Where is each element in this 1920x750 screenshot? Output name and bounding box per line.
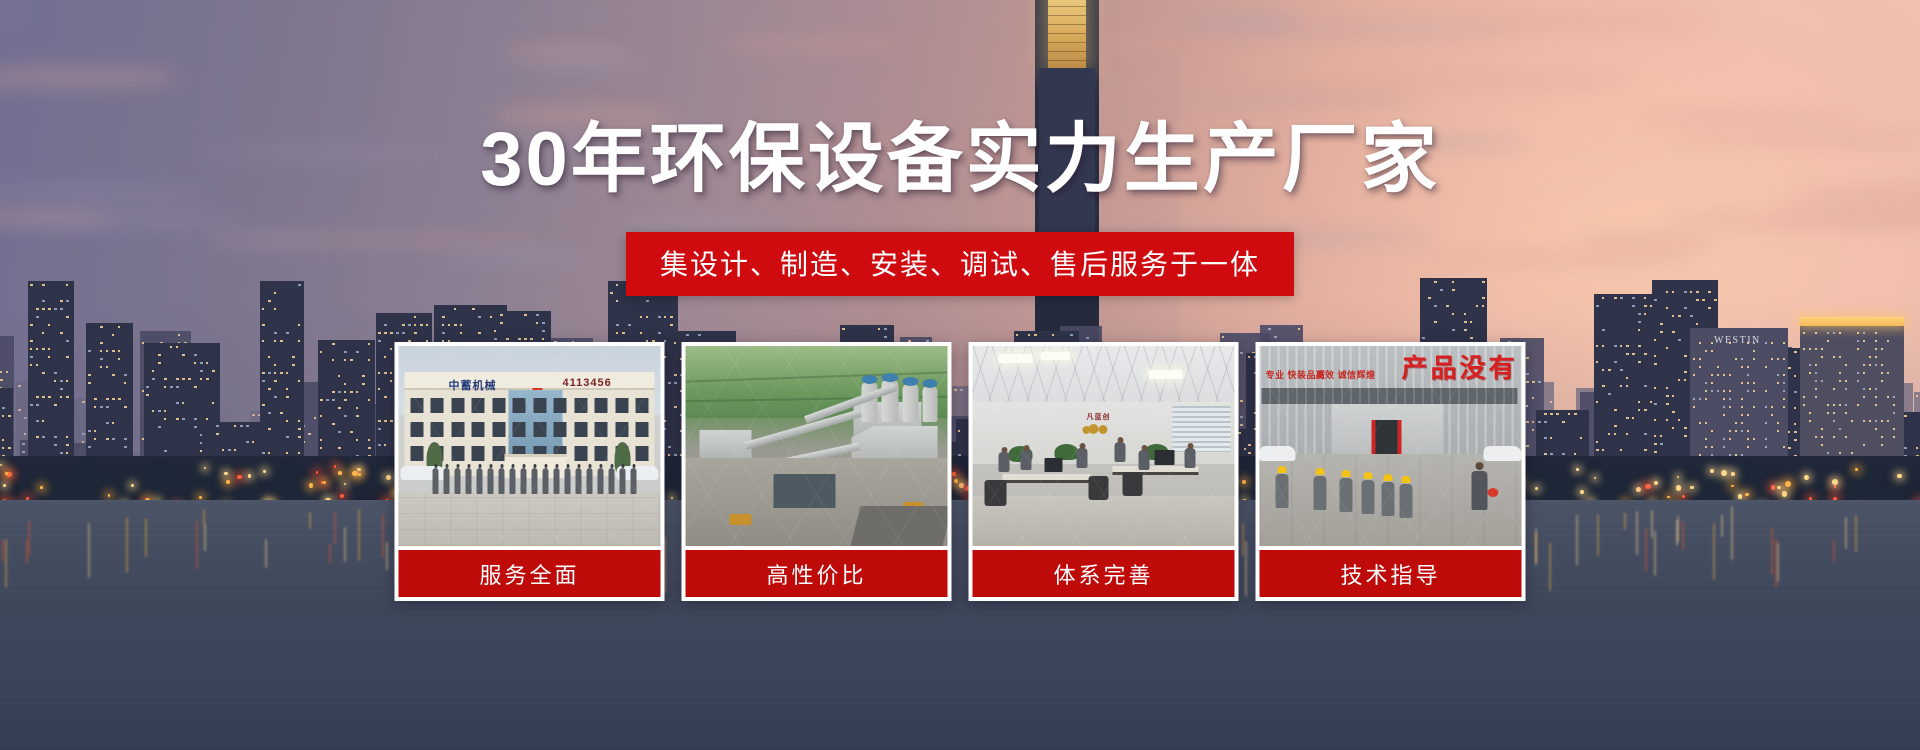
water-reflection — [265, 539, 267, 568]
water-reflection — [1775, 538, 1777, 587]
water-reflection — [1855, 515, 1857, 552]
westin-sign: WESTIN — [1714, 335, 1761, 346]
office-worker — [1021, 450, 1032, 470]
factory-window-strip — [1262, 388, 1518, 404]
bank-light — [1645, 484, 1651, 490]
staff-member — [499, 468, 505, 494]
water-reflection — [2, 539, 4, 560]
bank-light — [1682, 495, 1685, 498]
water-reflection — [204, 524, 206, 551]
staff-member — [620, 468, 626, 494]
water-reflection — [26, 540, 28, 563]
factory-worker — [1400, 476, 1413, 518]
bank-light — [1834, 485, 1837, 488]
staff-member — [598, 468, 604, 494]
bank-light — [0, 464, 2, 466]
factory-worker — [1340, 470, 1353, 512]
bank-light — [1731, 485, 1734, 488]
water-reflection — [386, 542, 388, 570]
staff-member — [587, 468, 593, 494]
factory-worker — [1362, 472, 1375, 514]
water-reflection — [1597, 514, 1599, 556]
bank-light — [5, 472, 8, 475]
bank-light — [1782, 491, 1787, 496]
water-reflection — [1636, 511, 1638, 555]
silo — [903, 384, 919, 422]
water-reflection — [145, 518, 147, 558]
water-reflection — [309, 512, 311, 529]
company-headquarters-photo: 中蓄机械 4113456 — [399, 346, 661, 546]
bank-light — [358, 473, 361, 476]
bank-light — [386, 475, 391, 480]
water-reflection — [329, 544, 331, 564]
bank-light — [1832, 479, 1838, 485]
office-worker — [1139, 450, 1150, 470]
feature-card[interactable]: 凡蓝创 — [969, 342, 1239, 601]
water-reflection — [88, 523, 90, 579]
water-reflection — [1651, 510, 1653, 538]
water-reflection — [5, 539, 7, 588]
hero-banner: WESTIN 30年环保设备实力生产厂家 集设计、制造、安装、调试、售后服务于一… — [0, 0, 1920, 750]
office-chair — [985, 480, 1007, 506]
staff-member — [532, 468, 538, 494]
feature-card-label: 体系完善 — [973, 550, 1235, 597]
window-row — [411, 422, 649, 437]
ceiling-light — [1041, 352, 1071, 360]
plaza-ground — [399, 492, 661, 546]
water-reflection — [1777, 543, 1779, 582]
staff-member — [466, 468, 472, 494]
water-reflection — [28, 521, 30, 556]
staff-member — [433, 468, 439, 494]
bank-light — [316, 471, 319, 474]
bank-light — [3, 484, 6, 487]
parked-car — [1260, 446, 1296, 461]
staff-member — [477, 468, 483, 494]
bank-light — [1580, 490, 1584, 494]
tower-crown-light — [1800, 317, 1904, 326]
office-chair — [1089, 476, 1109, 500]
supervisor — [1472, 462, 1488, 510]
water-reflection — [1624, 513, 1626, 530]
monitor — [1155, 450, 1175, 465]
water-reflection — [1535, 533, 1537, 562]
factory-worker — [1382, 474, 1395, 516]
bank-light — [108, 494, 110, 496]
bank-light — [1676, 485, 1682, 491]
factory-wall-sign: 产品没有 — [1401, 348, 1517, 385]
company-sign-text: 中蓄机械 — [449, 377, 497, 393]
water-reflection — [1731, 506, 1733, 559]
water-reflection — [1771, 528, 1773, 575]
feature-card[interactable]: 中蓄机械 4113456 — [395, 342, 665, 601]
window-blinds — [1173, 406, 1231, 452]
water-reflection — [1833, 540, 1835, 563]
bank-light — [1804, 475, 1809, 480]
office-worker — [1115, 442, 1126, 462]
staff-member — [488, 468, 494, 494]
ceiling-light — [999, 354, 1033, 363]
staff-member — [554, 468, 560, 494]
water-reflection — [358, 509, 360, 561]
factory-slogan: 高效 诚信辉煌 — [1316, 370, 1376, 381]
water-reflection — [126, 517, 128, 573]
office-floor — [973, 496, 1235, 546]
office-desk — [1003, 474, 1091, 483]
bank-light — [1594, 477, 1596, 479]
bank-light — [1535, 487, 1538, 490]
water-reflection — [1845, 517, 1847, 549]
bank-light — [1576, 468, 1579, 471]
staff-member — [565, 468, 571, 494]
workshop-workers-photo: 产品没有 专业 快装品质 高效 诚信辉煌 — [1260, 346, 1522, 546]
bank-light — [1777, 486, 1781, 490]
feature-card-label: 高性价比 — [686, 550, 948, 597]
water-reflection — [1654, 531, 1656, 576]
water-reflection — [1576, 515, 1578, 564]
bank-light — [263, 470, 265, 472]
loading-canopy — [774, 474, 836, 508]
parked-car — [1484, 446, 1522, 461]
bank-light — [1771, 485, 1775, 489]
staff-member — [543, 468, 549, 494]
water-reflection — [203, 509, 205, 525]
bank-light — [352, 471, 358, 477]
office-worker — [999, 452, 1010, 472]
staff-member — [510, 468, 516, 494]
water-reflection — [1721, 515, 1723, 537]
office-chair — [1123, 472, 1143, 496]
bank-light — [1636, 487, 1641, 492]
staff-member — [609, 468, 615, 494]
water-reflection — [334, 512, 336, 544]
feature-card[interactable]: 高性价比 — [682, 342, 952, 601]
staff-member — [576, 468, 582, 494]
bank-light — [338, 471, 342, 475]
water-reflection — [1535, 528, 1537, 566]
bank-light — [1785, 481, 1791, 487]
water-reflection — [1549, 543, 1551, 591]
bank-light — [1897, 474, 1901, 478]
phone-number-text: 4113456 — [563, 377, 612, 389]
production-plant-aerial-photo — [686, 346, 948, 546]
office-worker — [1185, 448, 1196, 468]
ceiling-light — [1149, 370, 1183, 379]
feature-card[interactable]: 产品没有 专业 快装品质 高效 诚信辉煌 技术指导 — [1256, 342, 1526, 601]
feature-card-list: 中蓄机械 4113456 — [395, 342, 1526, 601]
water-reflection — [196, 521, 198, 570]
feature-card-label: 技术指导 — [1260, 550, 1522, 597]
window-row — [411, 398, 649, 413]
feature-card-label: 服务全面 — [399, 550, 661, 597]
factory-door — [1372, 420, 1402, 454]
factory-worker — [1276, 466, 1289, 508]
bank-light — [334, 465, 337, 468]
subtitle-banner: 集设计、制造、安装、调试、售后服务于一体 — [626, 232, 1294, 296]
factory-worker — [1314, 468, 1327, 510]
wall-logo: 凡蓝创 — [1077, 412, 1117, 442]
water-reflection — [1713, 523, 1715, 580]
staff-member — [455, 468, 461, 494]
water-reflection — [382, 514, 384, 558]
staff-member — [631, 468, 637, 494]
office-team-photo: 凡蓝创 — [973, 346, 1235, 546]
water-reflection — [1677, 516, 1679, 542]
bank-light — [226, 480, 230, 484]
staff-member — [444, 468, 450, 494]
page-title: 30年环保设备实力生产厂家 — [0, 122, 1920, 198]
water-reflection — [1645, 528, 1647, 571]
bank-light — [357, 468, 360, 471]
tower-crown-light — [1048, 0, 1086, 70]
bank-light — [1738, 494, 1742, 498]
building-parapet — [405, 372, 655, 390]
silo — [923, 386, 938, 422]
water-reflection — [1676, 520, 1678, 546]
bank-light — [1690, 486, 1693, 489]
staff-member — [521, 468, 527, 494]
plant-road — [851, 506, 948, 546]
office-worker — [1077, 448, 1088, 468]
bank-light — [1654, 481, 1658, 485]
water-reflection — [1682, 521, 1684, 550]
loader-machine — [730, 514, 752, 525]
bank-light — [1710, 469, 1714, 473]
water-reflection — [344, 527, 346, 562]
red-helmet-icon — [1488, 488, 1499, 497]
bank-light — [131, 484, 135, 488]
bank-light — [1731, 472, 1735, 476]
bank-light — [224, 472, 228, 476]
monitor — [1045, 458, 1063, 472]
